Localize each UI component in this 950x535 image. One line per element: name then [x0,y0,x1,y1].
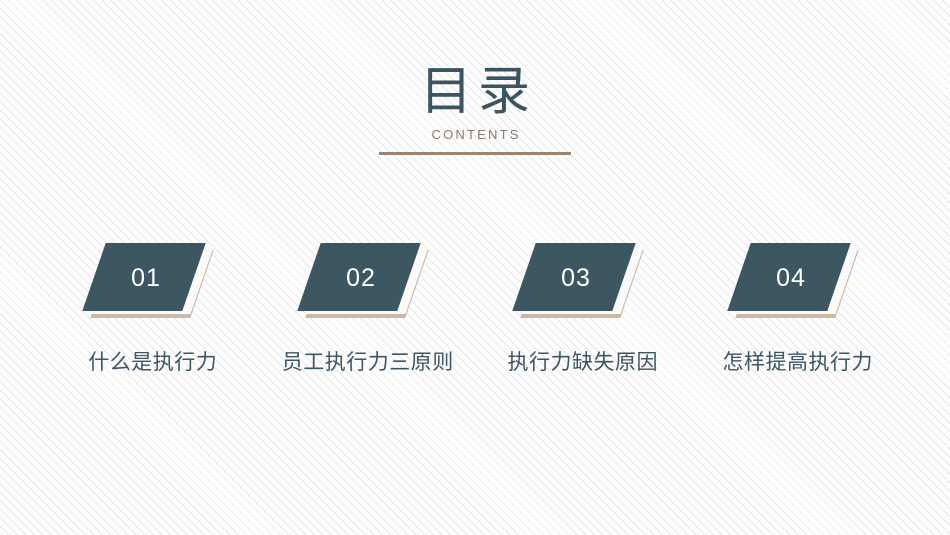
contents-item-02[interactable]: 02 员工执行力三原则 [260,243,475,376]
title-underline-rule [379,152,571,155]
page-title-block: 目录 CONTENTS [0,62,950,155]
page-subtitle: CONTENTS [0,127,950,143]
card-number-label: 03 [524,243,642,318]
contents-item-04[interactable]: 04 怎样提高执行力 [690,243,905,376]
contents-item-label[interactable]: 什么是执行力 [88,348,218,376]
card-shape-04[interactable]: 04 [739,243,857,318]
contents-item-label[interactable]: 执行力缺失原因 [507,348,658,376]
card-shape-02[interactable]: 02 [309,243,427,318]
card-number-label: 04 [739,243,857,318]
card-shape-01[interactable]: 01 [94,243,212,318]
slide-contents-page: { "slide": { "title_main": "目录", "title_… [0,0,950,535]
card-number-label: 01 [94,243,212,318]
contents-item-03[interactable]: 03 执行力缺失原因 [475,243,690,376]
card-number-label: 02 [309,243,427,318]
contents-item-01[interactable]: 01 什么是执行力 [45,243,260,376]
contents-item-label[interactable]: 员工执行力三原则 [281,348,454,376]
contents-card-row: 01 什么是执行力 02 员工执行力三原则 03 执行力缺失原因 04 怎样提高… [0,243,950,376]
card-shape-03[interactable]: 03 [524,243,642,318]
contents-item-label[interactable]: 怎样提高执行力 [722,348,873,376]
page-title: 目录 [0,62,950,122]
